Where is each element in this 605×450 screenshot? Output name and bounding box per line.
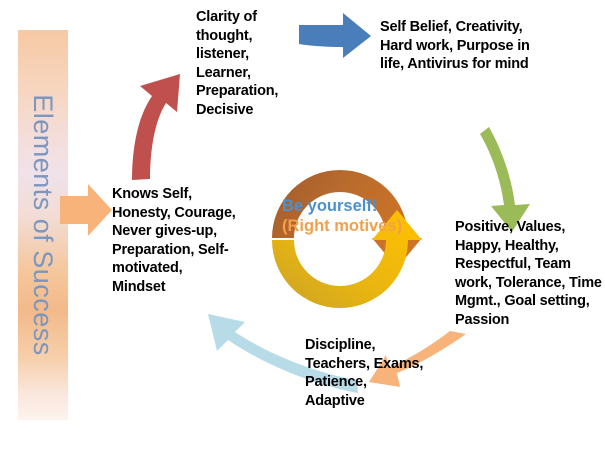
arrow-clarity-to-self-belief bbox=[299, 13, 371, 58]
node-positive: Positive, Values, Happy, Healthy, Respec… bbox=[455, 218, 603, 329]
arrow-banner-to-knows-self bbox=[60, 184, 112, 236]
center-message: Be yourself! (Right motives) bbox=[282, 196, 412, 236]
arrow-knows-self-to-clarity bbox=[132, 74, 180, 180]
diagram-canvas: Elements of Success bbox=[0, 0, 605, 450]
node-self-belief: Self Belief, Creativity, Hard work, Purp… bbox=[380, 18, 540, 74]
center-line-1: Be yourself! bbox=[282, 196, 412, 216]
central-cycle-ring bbox=[272, 170, 422, 308]
node-clarity: Clarity of thought, listener, Learner, P… bbox=[196, 8, 296, 119]
node-discipline: Discipline, Teachers, Exams, Patience, A… bbox=[305, 336, 425, 410]
node-knows-self: Knows Self, Honesty, Courage, Never give… bbox=[112, 185, 236, 296]
arrow-self-belief-to-positive bbox=[480, 127, 530, 232]
center-line-2: (Right motives) bbox=[282, 216, 412, 236]
